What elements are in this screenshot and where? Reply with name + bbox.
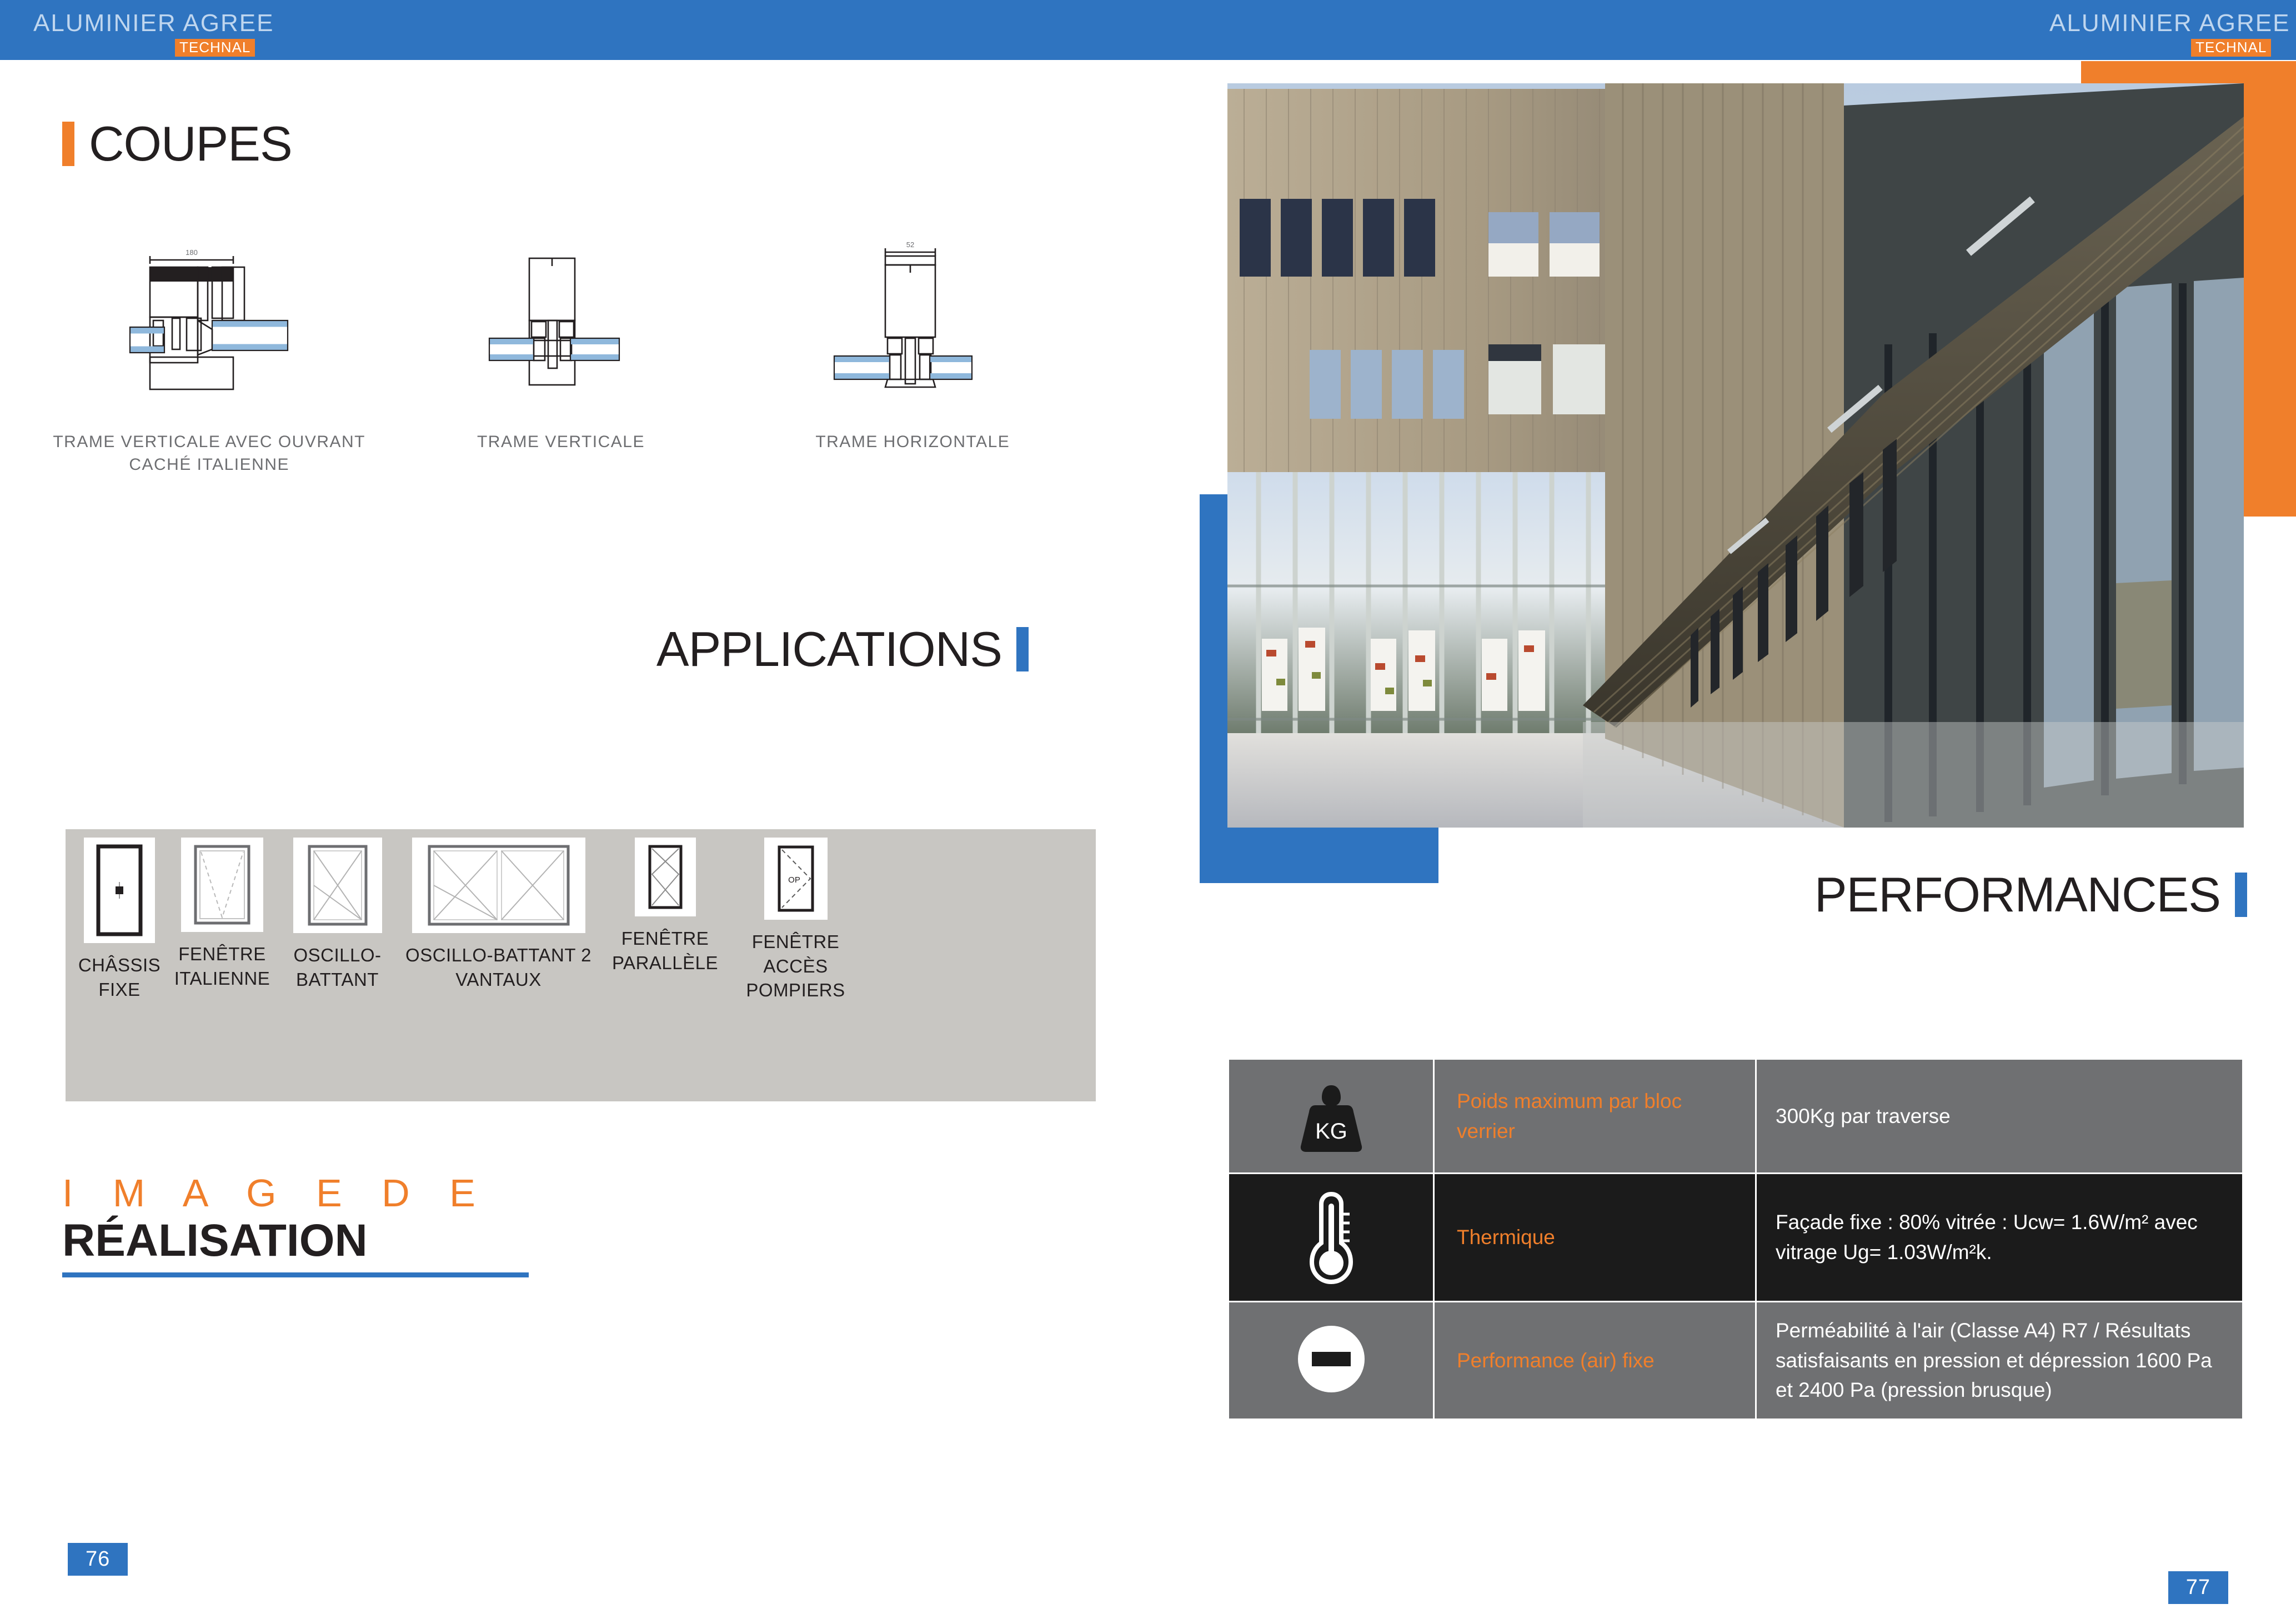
photo-block <box>1227 83 2255 805</box>
left-page: COUPES <box>0 60 1148 1624</box>
section-detail-vertical-icon <box>480 243 641 399</box>
window-fire-access-icon: OP <box>764 838 828 920</box>
performance-value: Façade fixe : 80% vitrée : Ucw= 1.6W/m² … <box>1756 1174 2243 1302</box>
performance-label: Performance (air) fixe <box>1434 1302 1756 1420</box>
performances-section-title: PERFORMANCES <box>1814 866 2247 923</box>
performance-label: Thermique <box>1434 1174 1756 1302</box>
section-detail-horizontal-icon: 52 <box>832 243 993 399</box>
application-caption: FENÊTRE ITALIENNE <box>167 942 278 990</box>
application-item: CHÂSSIS FIXE <box>72 838 167 1001</box>
application-caption: FENÊTRE PARALLÈLE <box>600 926 730 975</box>
weight-icon-text: KG <box>1315 1119 1347 1144</box>
coupe-dimension-label: 180 <box>186 248 198 257</box>
no-entry-icon <box>1229 1302 1434 1420</box>
coupe-caption: TRAME VERTICALE AVEC OUVRANT CACHÉ ITALI… <box>33 431 385 476</box>
fire-access-op-label: OP <box>788 875 800 885</box>
application-item: OSCILLO-BATTANT 2 VANTAUX <box>397 838 600 991</box>
coupe-item: 180 TRAME VERTICALE AVEC OUVRANT CACHÉ I… <box>33 243 385 476</box>
image-realisation-line1: I M A G E D E <box>62 1171 529 1216</box>
brand-tag-right: TECHNAL <box>2191 39 2271 57</box>
top-header-bar <box>0 0 2296 60</box>
performance-label: Poids maximum par bloc verrier <box>1434 1059 1756 1174</box>
image-realisation-heading: I M A G E D E RÉALISATION <box>62 1171 529 1277</box>
window-parallel-icon <box>635 838 696 916</box>
brand-name-left: ALUMINIER AGREE <box>33 11 274 36</box>
coupes-title-text: COUPES <box>89 116 292 172</box>
coupe-item: TRAME VERTICALE <box>385 243 736 476</box>
application-item: OP FENÊTRE ACCÈS POMPIERS <box>730 838 861 1003</box>
applications-section-title: APPLICATIONS <box>656 621 1029 678</box>
coupes-drawings-row: 180 TRAME VERTICALE AVEC OUVRANT CACHÉ I… <box>33 243 1089 476</box>
performance-value: Perméabilité à l'air (Classe A4) R7 / Ré… <box>1756 1302 2243 1420</box>
application-caption: FENÊTRE ACCÈS POMPIERS <box>730 930 861 1003</box>
brand-left: ALUMINIER AGREE TECHNAL <box>33 11 274 57</box>
performances-table: KG Poids maximum par bloc verrier 300Kg … <box>1227 1058 2244 1420</box>
application-caption: CHÂSSIS FIXE <box>72 953 167 1001</box>
coupe-item: 52 TRAME HORIZONTALE <box>737 243 1089 476</box>
window-tilt-turn-icon <box>293 838 382 933</box>
table-row: Thermique Façade fixe : 80% vitrée : Ucw… <box>1229 1174 2243 1302</box>
coupe-caption: TRAME VERTICALE <box>477 431 645 454</box>
page-number-left: 76 <box>68 1543 128 1576</box>
table-row: KG Poids maximum par bloc verrier 300Kg … <box>1229 1059 2243 1174</box>
window-tilt-turn-double-icon <box>412 838 585 933</box>
brand-name-right: ALUMINIER AGREE <box>2049 11 2290 36</box>
application-caption: OSCILLO-BATTANT <box>278 943 397 991</box>
applications-title-text: APPLICATIONS <box>656 621 1002 678</box>
page-number-right: 77 <box>2168 1571 2228 1604</box>
table-row: Performance (air) fixe Perméabilité à l'… <box>1229 1302 2243 1420</box>
performances-title-text: PERFORMANCES <box>1814 866 2220 923</box>
application-item: FENÊTRE ITALIENNE <box>167 838 278 990</box>
blue-accent-bar <box>2235 873 2247 917</box>
application-item: FENÊTRE PARALLÈLE <box>600 838 730 975</box>
image-realisation-line2: RÉALISATION <box>62 1216 529 1266</box>
brand-right: ALUMINIER AGREE TECHNAL <box>2049 11 2290 57</box>
coupes-section-title: COUPES <box>62 116 292 172</box>
window-awning-icon <box>181 838 263 932</box>
window-fixed-frame-icon <box>84 838 155 943</box>
performance-value: 300Kg par traverse <box>1756 1059 2243 1174</box>
blue-accent-bar <box>1016 627 1029 671</box>
coupe-caption: TRAME HORIZONTALE <box>815 431 1010 454</box>
blue-underline <box>62 1272 529 1277</box>
application-item: OSCILLO-BATTANT <box>278 838 397 991</box>
section-detail-vertical-hidden-sash-icon: 180 <box>129 243 290 399</box>
thermometer-icon <box>1229 1174 1434 1302</box>
application-caption: OSCILLO-BATTANT 2 VANTAUX <box>397 943 600 991</box>
orange-accent-bar <box>62 122 74 166</box>
building-facade-photo <box>1227 83 2244 828</box>
applications-items-row: CHÂSSIS FIXE FENÊTRE ITALIENNE <box>72 838 1094 1003</box>
weight-kg-icon: KG <box>1229 1059 1434 1174</box>
brand-tag-left: TECHNAL <box>175 39 255 57</box>
coupe-dimension-label: 52 <box>906 240 914 249</box>
